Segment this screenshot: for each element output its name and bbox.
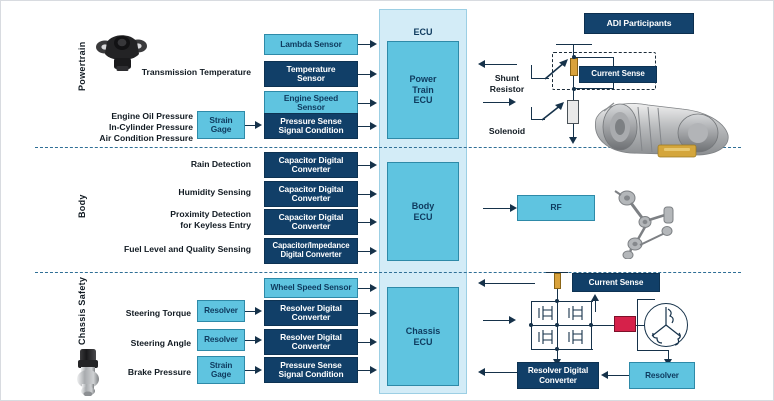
input-label-engine-pressures: Engine Oil Pressure In-Cylinder Pressure… <box>97 111 193 144</box>
arrow-pressuresense-to-ecu-powertrain <box>370 122 377 130</box>
input-label-rain-detection: Rain Detection <box>151 159 251 170</box>
currentsense-tap-bottom <box>574 88 614 89</box>
input-label-brake-pressure: Brake Pressure <box>121 367 191 378</box>
block-resolver-digital-converter-motor[interactable]: Resolver Digital Converter <box>517 362 599 389</box>
block-capacitor-digital-converter-rain[interactable]: Capacitor Digital Converter <box>264 152 358 178</box>
motor-return-bottom <box>637 350 669 351</box>
block-rf[interactable]: RF <box>517 195 595 221</box>
connector-ecu-to-solenoid-drive <box>483 102 511 103</box>
arrow-rdc-angle-to-ecu <box>370 338 377 346</box>
connector-currentsense-to-ecu-chassis <box>483 283 535 284</box>
arrow-lambda-to-ecu <box>370 40 377 48</box>
block-capacitor-digital-converter-humidity[interactable]: Capacitor Digital Converter <box>264 181 358 207</box>
arrow-ecu-to-rf <box>510 204 517 212</box>
bridge-mosfet-symbols <box>533 301 595 351</box>
input-label-transmission-temperature: Transmission Temperature <box>125 67 251 78</box>
block-resolver-steering-torque[interactable]: Resolver <box>197 300 245 322</box>
arrow-solenoid-ground <box>569 137 577 144</box>
connector-resolver-to-rdc-motor <box>607 375 629 376</box>
section-label-powertrain: Powertrain <box>77 25 87 91</box>
block-current-sense-chassis[interactable]: Current Sense <box>572 273 660 292</box>
motor-return-left <box>637 299 638 351</box>
currentsense-tap-top <box>574 57 614 58</box>
connector-rdc-to-ecu-chassis <box>483 372 517 373</box>
ecu-unit-powertrain[interactable]: Power Train ECU <box>387 41 459 139</box>
arrow-enginespeed-to-ecu <box>370 99 377 107</box>
block-resolver-digital-converter-angle[interactable]: Resolver Digital Converter <box>264 329 358 355</box>
chassis-shunt-resistor-element <box>554 273 561 289</box>
connector-ecu-to-bridge-drive <box>483 320 511 321</box>
block-current-sense-powertrain[interactable]: Current Sense <box>579 66 657 83</box>
legend-adi-participants: ADI Participants <box>584 13 694 34</box>
shunt-resistor-element <box>570 58 578 76</box>
block-temperature-sensor[interactable]: Temperature Sensor <box>264 61 358 87</box>
block-resolver-steering-angle[interactable]: Resolver <box>197 329 245 351</box>
diagram-canvas: ECU Powertrain Transmission Temperature … <box>0 0 774 401</box>
arrow-temperature-to-ecu <box>370 70 377 78</box>
input-label-fuel-level-quality: Fuel Level and Quality Sensing <box>119 244 251 255</box>
arrow-currentsense-to-ecu-chassis <box>478 279 485 287</box>
ecu-unit-chassis[interactable]: Chassis ECU <box>387 287 459 386</box>
motor-return-top <box>637 299 655 300</box>
input-label-steering-torque: Steering Torque <box>121 308 191 319</box>
chassis-shunt-top-rail <box>546 272 568 273</box>
arrow-resolver-to-rdc-motor <box>601 371 608 379</box>
block-lambda-sensor[interactable]: Lambda Sensor <box>264 34 358 55</box>
block-capacitor-impedance-digital-converter[interactable]: Capacitor/Impedance Digital Converter <box>264 238 358 264</box>
arrow-resolver2-to-rdc <box>255 336 262 344</box>
solenoid-coil-element <box>567 100 579 124</box>
input-label-proximity-detection: Proximity Detection for Keyless Entry <box>149 209 251 231</box>
shunt-pointer-arrow <box>544 59 570 81</box>
block-strain-gage-powertrain[interactable]: Strain Gage <box>197 111 245 139</box>
arrow-currentsense-feed-chassis <box>591 294 599 301</box>
arrow-straingage-to-pressuresense-chassis <box>255 366 262 374</box>
connector-ecu-to-currentsense-return <box>483 64 517 65</box>
arrow-rdc-to-ecu-chassis <box>478 368 485 376</box>
label-shunt-resistor: Shunt Resistor <box>485 73 529 95</box>
brake-pressure-sensor-photo <box>73 348 103 396</box>
block-engine-speed-sensor[interactable]: Engine Speed Sensor <box>264 91 358 115</box>
arrow-pressuresense-to-ecu-chassis <box>370 366 377 374</box>
block-resolver-digital-converter-torque[interactable]: Resolver Digital Converter <box>264 300 358 326</box>
arrow-straingage-to-pressuresense <box>255 121 262 129</box>
arrow-resolver1-to-rdc <box>255 307 262 315</box>
block-pressure-sense-signal-condition-powertrain[interactable]: Pressure Sense Signal Condition <box>264 113 358 139</box>
currentsense-feed-chassis <box>595 300 596 312</box>
section-label-body: Body <box>77 184 87 218</box>
arrow-cdc-fuel-to-ecu <box>370 247 377 255</box>
block-wheel-speed-sensor[interactable]: Wheel Speed Sensor <box>264 278 358 298</box>
block-pressure-sense-signal-condition-chassis[interactable]: Pressure Sense Signal Condition <box>264 357 358 383</box>
block-capacitor-digital-converter-proximity[interactable]: Capacitor Digital Converter <box>264 209 358 235</box>
section-label-chassis-safety: Chassis Safety <box>77 283 87 345</box>
solenoid-pointer-riser <box>531 107 532 120</box>
transmission-gearbox-photo <box>586 93 736 161</box>
connector-ecu-to-rf <box>483 208 512 209</box>
input-label-humidity-sensing: Humidity Sensing <box>151 187 251 198</box>
arrow-ecu-to-solenoid-drive <box>509 98 516 106</box>
label-solenoid: Solenoid <box>485 126 529 137</box>
arrow-cdc-rain-to-ecu <box>370 161 377 169</box>
ecu-unit-body[interactable]: Body ECU <box>387 162 459 261</box>
block-resolver-motor[interactable]: Resolver <box>629 362 695 389</box>
ecu-column-caption: ECU <box>379 27 467 37</box>
arrow-ecu-to-bridge-drive <box>509 316 516 324</box>
motor-phase-resistor <box>614 316 636 332</box>
arrow-ecu-currentsense-return <box>478 60 485 68</box>
motor-winding-symbol <box>644 303 688 347</box>
arrow-rdc-torque-to-ecu <box>370 309 377 317</box>
door-latch-mechanism-photo <box>609 187 687 259</box>
input-label-steering-angle: Steering Angle <box>121 338 191 349</box>
arrow-cdc-humidity-to-ecu <box>370 190 377 198</box>
bridge-output-to-motor <box>593 325 615 326</box>
shunt-pointer-riser <box>531 65 532 79</box>
arrow-cdc-proximity-to-ecu <box>370 218 377 226</box>
arrow-wheelspeed-to-ecu <box>370 284 377 292</box>
block-strain-gage-brake[interactable]: Strain Gage <box>197 356 245 384</box>
solenoid-pointer-arrow <box>541 101 567 123</box>
